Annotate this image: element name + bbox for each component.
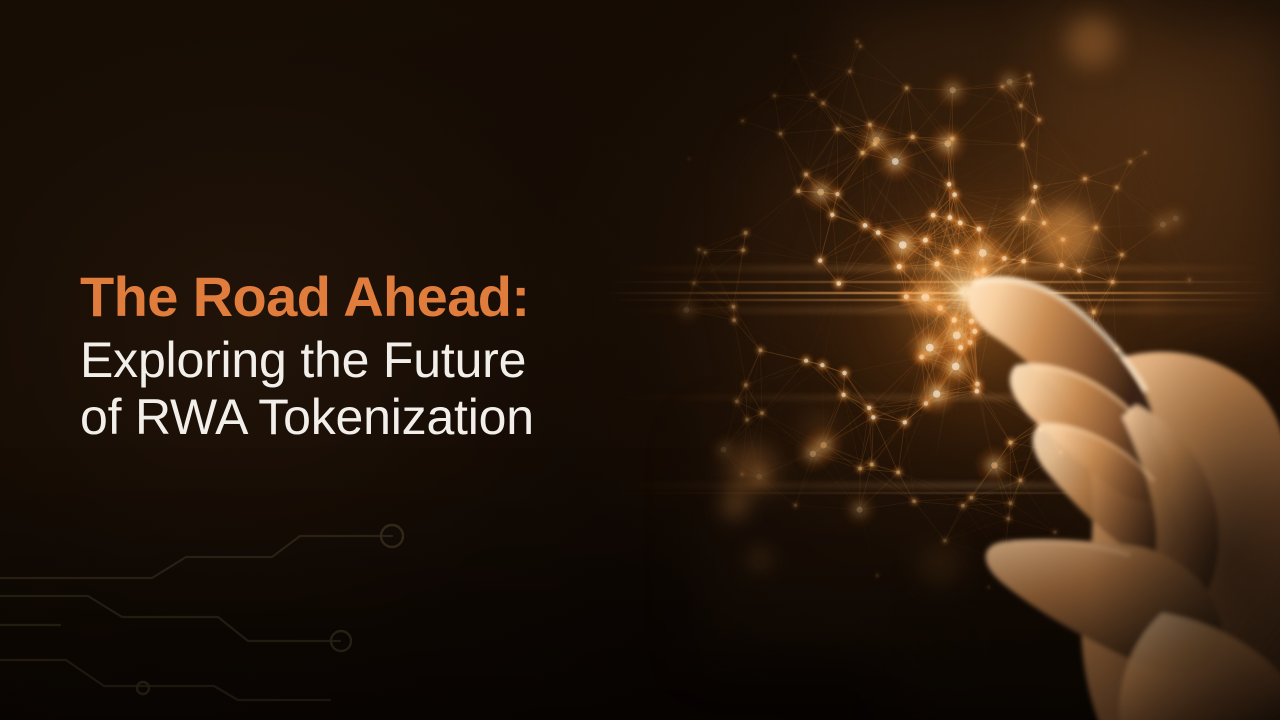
network-node	[817, 189, 824, 196]
network-node	[905, 86, 909, 90]
banner-root: The Road Ahead: Exploring the Future of …	[0, 0, 1280, 720]
network-node	[804, 359, 808, 363]
page-title: The Road Ahead:	[80, 266, 680, 328]
network-node	[773, 94, 776, 97]
hand-graphic	[930, 255, 1280, 720]
network-edge	[746, 233, 821, 261]
circuit-node	[381, 525, 403, 547]
network-node	[1115, 186, 1119, 190]
network-node	[794, 504, 797, 507]
network-edge	[760, 350, 762, 413]
network-edge	[743, 250, 820, 261]
network-node	[732, 305, 736, 309]
network-node	[858, 467, 862, 471]
network-node	[830, 213, 834, 217]
network-edge	[795, 46, 861, 56]
network-node	[912, 499, 916, 503]
network-edge	[746, 191, 799, 233]
network-node	[793, 55, 796, 58]
network-node	[692, 282, 695, 285]
network-node	[756, 474, 762, 480]
network-node	[1001, 85, 1005, 89]
network-node	[760, 411, 764, 415]
network-node	[744, 231, 748, 235]
network-node	[848, 70, 851, 73]
network-node	[821, 101, 824, 104]
network-node	[779, 132, 782, 135]
network-edge	[1085, 153, 1145, 179]
network-node	[1128, 160, 1131, 163]
network-node	[796, 189, 800, 193]
network-node	[740, 473, 743, 476]
headline-block: The Road Ahead: Exploring the Future of …	[80, 266, 680, 446]
network-node	[1173, 215, 1179, 221]
network-edge	[743, 191, 798, 250]
network-node	[683, 307, 689, 313]
network-node	[804, 173, 808, 177]
network-node	[758, 348, 762, 352]
network-edge	[762, 361, 806, 413]
page-subtitle: Exploring the Future of RWA Tokenization	[80, 332, 680, 446]
network-node	[744, 383, 748, 387]
network-node	[950, 87, 956, 93]
network-node	[720, 447, 726, 453]
network-node	[697, 248, 700, 251]
network-node	[1021, 143, 1025, 147]
network-node	[1083, 177, 1087, 181]
network-node	[873, 142, 877, 146]
page-subtitle-line-1: Exploring the Future	[80, 332, 680, 389]
circuit-node	[137, 682, 149, 694]
network-edge	[780, 134, 798, 191]
network-edge	[689, 121, 743, 159]
network-node	[1144, 151, 1147, 154]
network-node	[745, 418, 749, 422]
network-node	[811, 93, 814, 96]
network-node	[1019, 104, 1023, 108]
network-node	[1027, 74, 1030, 77]
network-node	[868, 123, 872, 127]
network-node	[732, 318, 736, 322]
network-edge	[795, 41, 857, 56]
network-node	[836, 127, 840, 131]
network-edge	[734, 320, 806, 361]
network-edge	[1117, 188, 1122, 255]
network-node	[861, 151, 865, 155]
network-node	[741, 119, 744, 122]
network-node	[876, 574, 879, 577]
circuit-node	[331, 631, 351, 651]
network-node	[810, 451, 816, 457]
network-edge	[905, 422, 914, 501]
circuit-trace	[0, 660, 330, 700]
circuit-trace	[0, 596, 340, 641]
network-node	[687, 157, 690, 160]
network-node	[1037, 118, 1041, 122]
network-node	[741, 248, 745, 252]
network-node	[896, 470, 900, 474]
network-edge	[762, 395, 844, 413]
network-node	[856, 507, 862, 513]
network-node	[735, 400, 739, 404]
network-node	[911, 135, 915, 139]
network-node	[820, 363, 824, 367]
circuit-trace	[0, 536, 390, 578]
network-node	[855, 40, 858, 43]
page-subtitle-line-2: of RWA Tokenization	[80, 389, 680, 446]
network-node	[841, 393, 845, 397]
network-node	[870, 463, 874, 467]
